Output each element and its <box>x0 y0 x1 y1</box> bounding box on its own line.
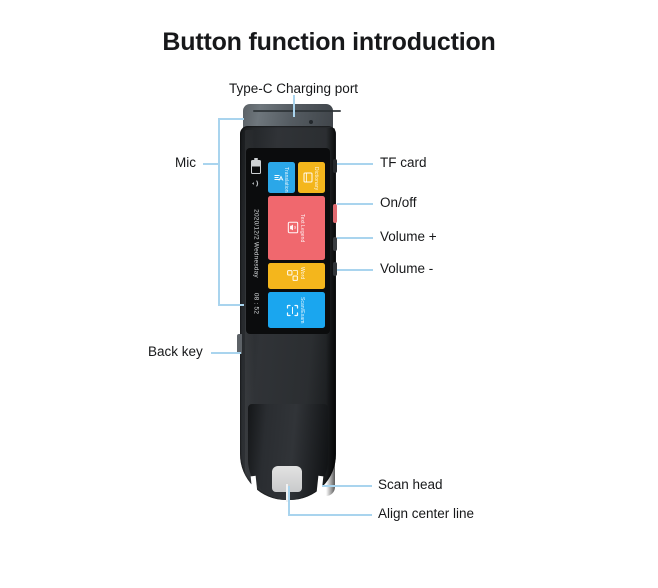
leader-type-c <box>293 95 295 117</box>
leader-mic-stem <box>203 163 219 165</box>
back-key-button[interactable] <box>237 334 242 354</box>
callout-tf-card: TF card <box>380 156 427 170</box>
leader-mic-top <box>218 118 244 120</box>
volume-up-button[interactable] <box>333 237 337 251</box>
callout-volume-up: Volume + <box>380 230 437 244</box>
page-title: Button function introduction <box>0 28 658 57</box>
wifi-icon <box>250 178 261 189</box>
read-aloud-icon <box>286 220 300 235</box>
scan-frame-icon <box>285 303 300 318</box>
leader-mic-bottom <box>218 304 244 306</box>
callout-on-off: On/off <box>380 196 417 210</box>
tile-word[interactable]: Word <box>268 263 325 289</box>
callout-type-c-charging-port: Type-C Charging port <box>229 82 358 96</box>
tile-scan[interactable]: Scan/Exam <box>268 292 325 328</box>
device-screen[interactable]: 2020/12/2 Wednesday 08 : 52 Translation … <box>246 148 330 334</box>
leader-scan-head <box>322 485 372 487</box>
power-button[interactable] <box>333 204 337 223</box>
callout-mic: Mic <box>175 156 196 170</box>
cap-seam <box>253 110 341 112</box>
tf-card-slot[interactable] <box>333 159 337 173</box>
leader-back-key <box>211 352 241 354</box>
leader-align-vertical <box>288 486 290 515</box>
tile-translate[interactable]: Translation <box>268 162 295 193</box>
callout-scan-head: Scan head <box>378 478 443 492</box>
tile-dictionary[interactable]: Dictionary <box>298 162 325 193</box>
device-illustration: 2020/12/2 Wednesday 08 : 52 Translation … <box>234 104 342 500</box>
tile-word-label: Word <box>299 267 305 279</box>
leader-mic-bracket <box>218 118 220 306</box>
callout-back-key: Back key <box>148 345 203 359</box>
leader-align-horizontal <box>288 514 372 516</box>
word-book-icon <box>286 269 299 282</box>
tile-dictionary-label: Dictionary <box>313 167 319 190</box>
screen-tile-grid: Translation Dictionary Text Legend <box>268 154 326 328</box>
battery-icon <box>251 160 261 174</box>
tile-scan-label: Scan/Exam <box>299 297 305 323</box>
screen-status-bar: 2020/12/2 Wednesday 08 : 52 <box>246 148 266 334</box>
leader-volume-up <box>337 237 373 239</box>
callout-volume-down: Volume - <box>380 262 433 276</box>
type-c-port-icon <box>309 120 313 124</box>
tile-read[interactable]: Text Legend <box>268 196 325 260</box>
status-time: 08 : 52 <box>253 272 260 335</box>
leader-on-off <box>337 203 373 205</box>
tile-translate-label: Translation <box>283 167 289 193</box>
tile-read-label: Text Legend <box>299 214 305 242</box>
leader-tf-card <box>337 163 373 165</box>
callout-align-center-line: Align center line <box>378 507 474 521</box>
leader-volume-down <box>337 269 373 271</box>
